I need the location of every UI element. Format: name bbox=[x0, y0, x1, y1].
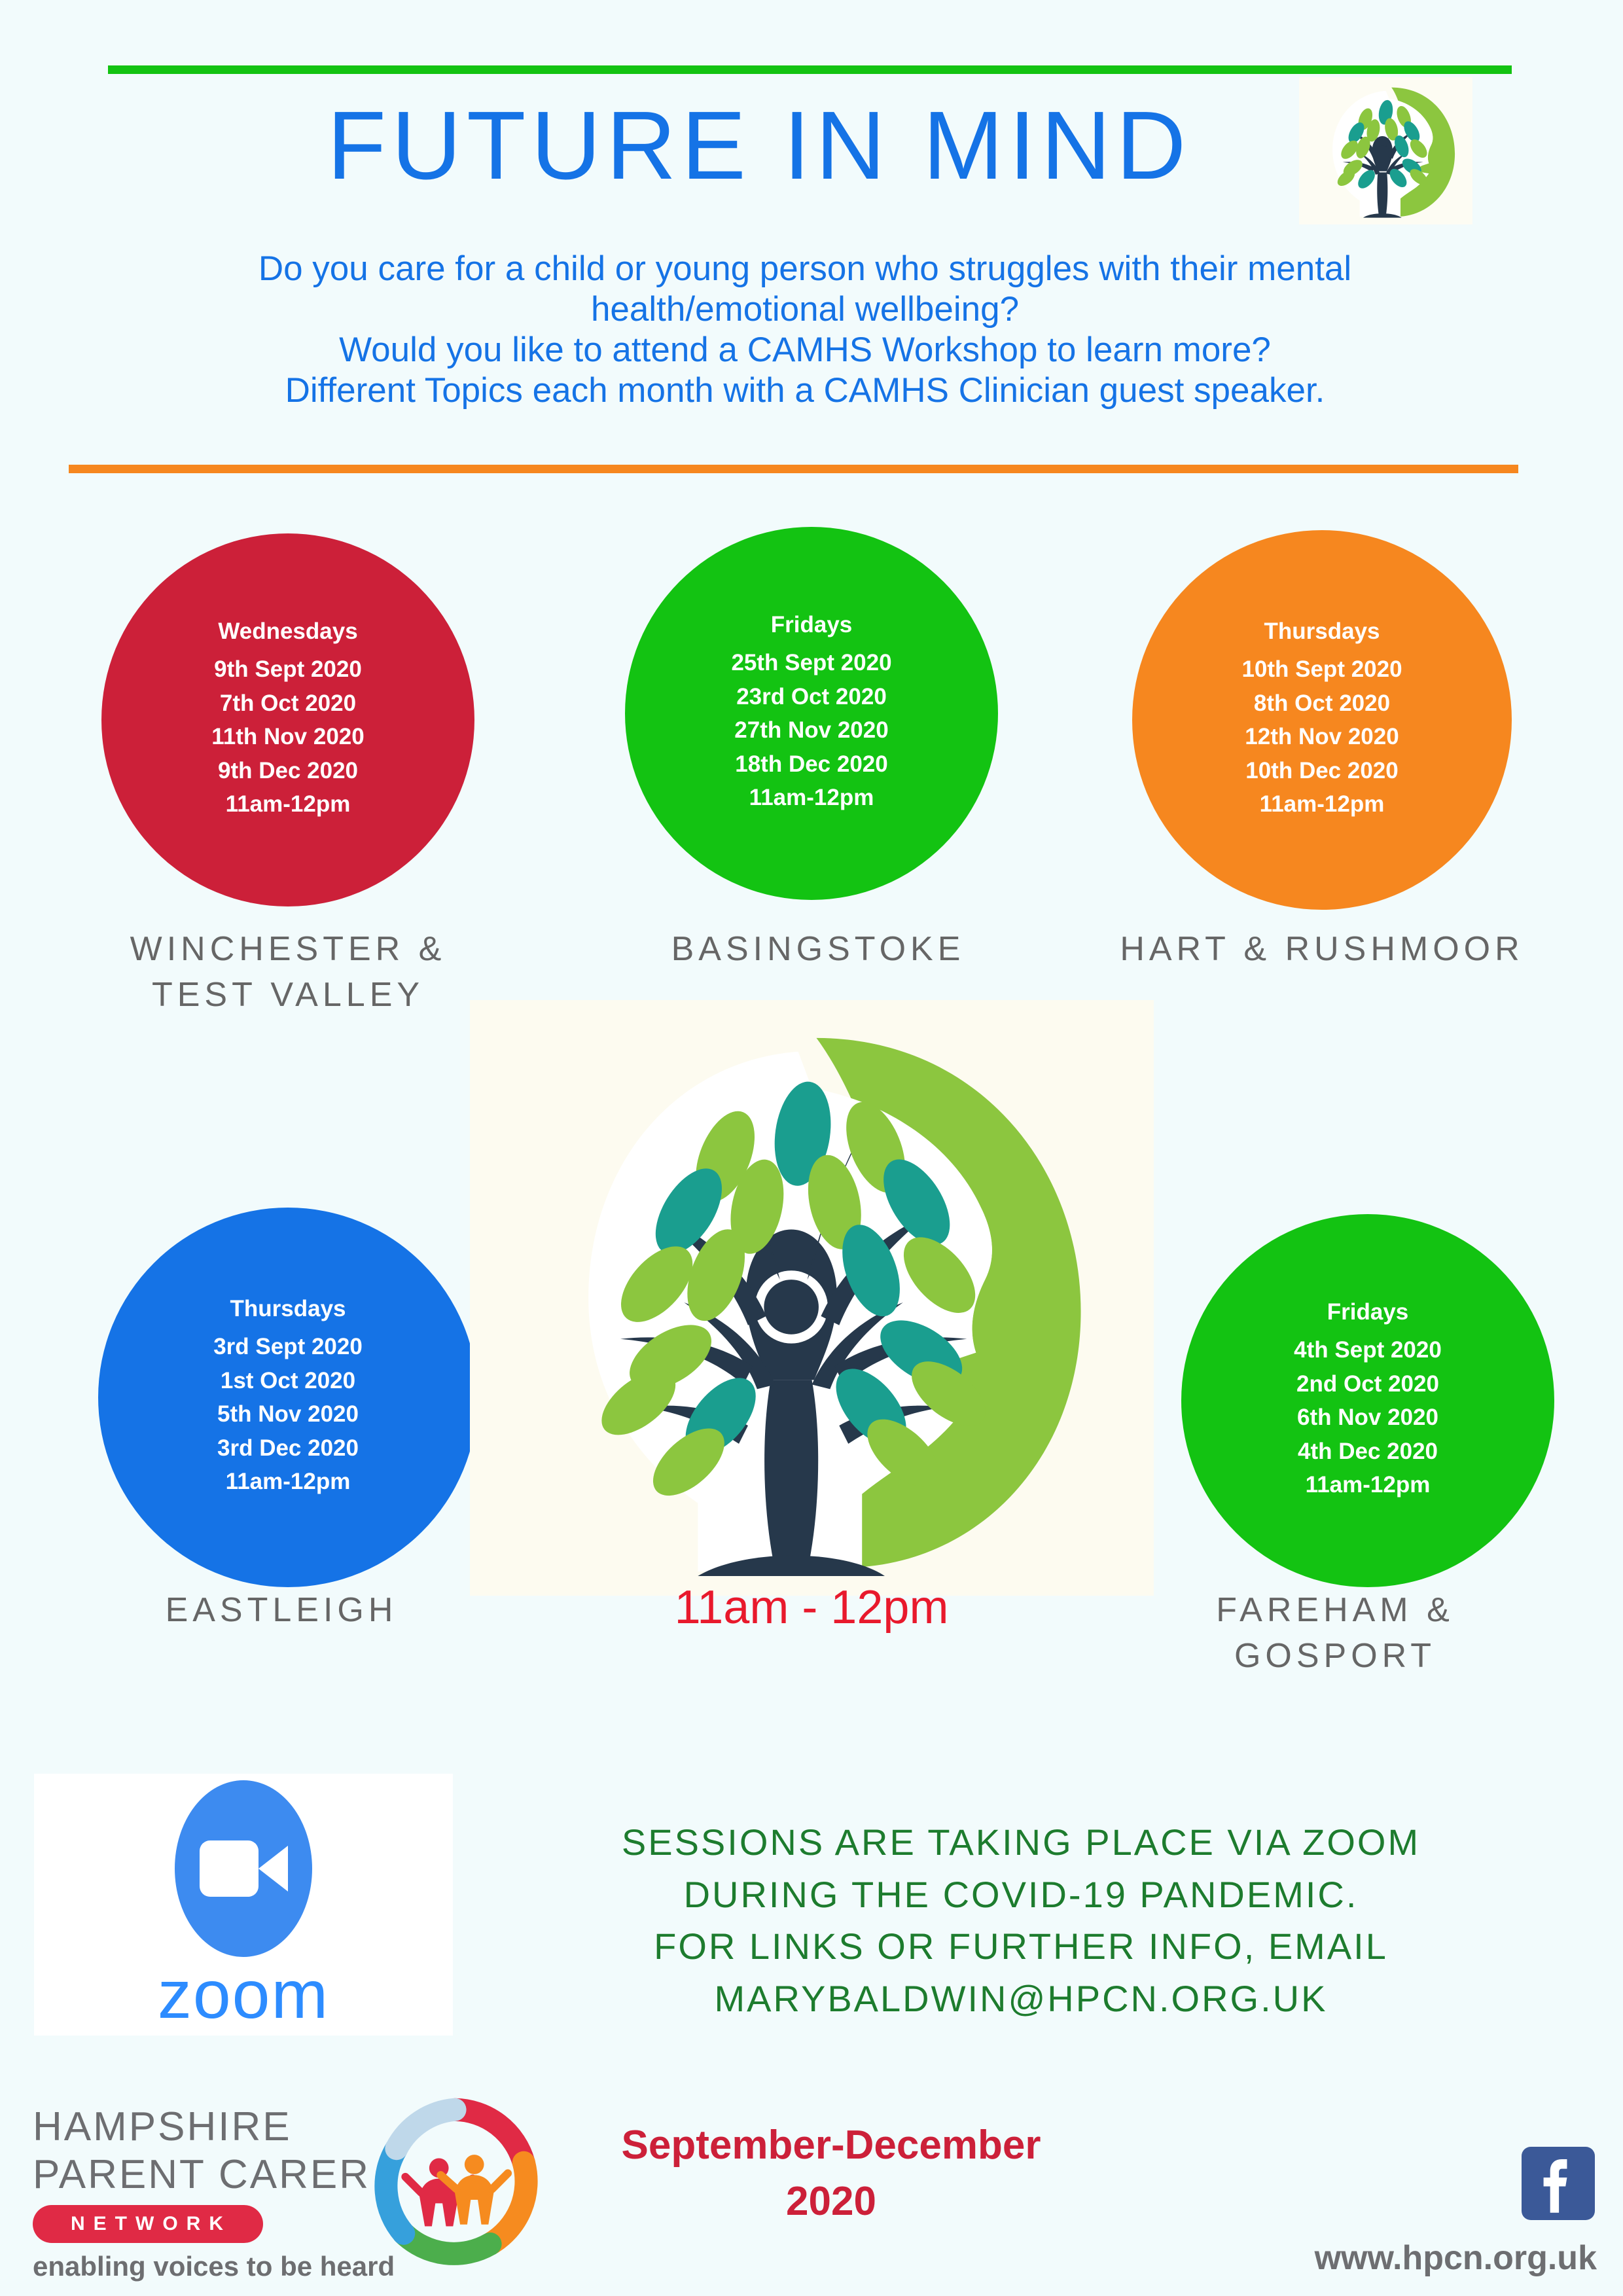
hpcn-tagline: enabling voices to be heard bbox=[33, 2251, 399, 2282]
venue-time: 11am-12pm bbox=[749, 781, 874, 814]
zoom-logo: zoom bbox=[34, 1774, 453, 2036]
venue-date: 27th Nov 2020 bbox=[734, 713, 888, 747]
venue-date: 4th Sept 2020 bbox=[1294, 1333, 1442, 1367]
venue-date: 10th Dec 2020 bbox=[1245, 754, 1398, 787]
venue-date: 10th Sept 2020 bbox=[1241, 653, 1402, 686]
venue-label-line: TEST VALLEY bbox=[39, 972, 537, 1018]
venue-day: Fridays bbox=[1327, 1299, 1409, 1325]
sessions-info-block: SESSIONS ARE TAKING PLACE VIA ZOOM DURIN… bbox=[497, 1816, 1544, 2024]
venue-date: 7th Oct 2020 bbox=[220, 687, 356, 720]
venue-date: 4th Dec 2020 bbox=[1298, 1435, 1438, 1468]
session-time-text: 11am - 12pm bbox=[576, 1581, 1047, 1634]
venue-date: 8th Oct 2020 bbox=[1254, 687, 1390, 720]
venue-time: 11am-12pm bbox=[226, 787, 351, 821]
hpcn-logo: HAMPSHIRE PARENT CARER NETWORK enabling … bbox=[33, 2085, 543, 2294]
zoom-wordmark: zoom bbox=[158, 1961, 329, 2029]
venue-circle-eastleigh: Thursdays 3rd Sept 2020 1st Oct 2020 5th… bbox=[98, 1208, 478, 1587]
venue-date: 6th Nov 2020 bbox=[1297, 1401, 1438, 1434]
venue-day: Thursdays bbox=[1264, 619, 1380, 645]
venue-date: 23rd Oct 2020 bbox=[736, 680, 887, 713]
date-range-footer: September-December 2020 bbox=[589, 2117, 1073, 2229]
subtitle-line-1: Do you care for a child or young person … bbox=[85, 249, 1525, 289]
sessions-line-3: FOR LINKS OR FURTHER INFO, EMAIL bbox=[497, 1920, 1544, 1973]
venue-label-line: WINCHESTER & bbox=[39, 926, 537, 972]
hpcn-swirl-people-icon bbox=[366, 2094, 543, 2270]
subtitle-block: Do you care for a child or young person … bbox=[85, 249, 1525, 411]
sessions-line-2: DURING THE COVID-19 PANDEMIC. bbox=[497, 1869, 1544, 1921]
venue-label-hart-rushmoor: HART & RUSHMOOR bbox=[1060, 926, 1584, 972]
tree-head-logo bbox=[470, 1000, 1154, 1596]
venue-time: 11am-12pm bbox=[226, 1465, 351, 1498]
venue-date: 1st Oct 2020 bbox=[221, 1364, 355, 1397]
zoom-camera-icon bbox=[175, 1780, 312, 1957]
venue-circle-hart-rushmoor: Thursdays 10th Sept 2020 8th Oct 2020 12… bbox=[1132, 530, 1512, 910]
tree-head-logo bbox=[1299, 77, 1472, 224]
venue-date: 25th Sept 2020 bbox=[731, 646, 891, 679]
sessions-line-1: SESSIONS ARE TAKING PLACE VIA ZOOM bbox=[497, 1816, 1544, 1869]
venue-day: Thursdays bbox=[230, 1296, 346, 1322]
poster-page: FUTURE IN MIND bbox=[0, 0, 1623, 2296]
venue-time: 11am-12pm bbox=[1306, 1468, 1431, 1501]
subtitle-line-2: health/emotional wellbeing? bbox=[85, 289, 1525, 330]
hpcn-network-pill: NETWORK bbox=[33, 2205, 263, 2243]
hpcn-line-1: HAMPSHIRE bbox=[33, 2103, 399, 2151]
venue-date: 9th Dec 2020 bbox=[218, 754, 358, 787]
hpcn-line-2: PARENT CARER bbox=[33, 2151, 399, 2198]
venue-label-eastleigh: EASTLEIGH bbox=[39, 1587, 524, 1633]
venue-date: 3rd Sept 2020 bbox=[213, 1330, 363, 1363]
subtitle-line-4: Different Topics each month with a CAMHS… bbox=[85, 370, 1525, 411]
venue-time: 11am-12pm bbox=[1260, 787, 1385, 821]
subtitle-line-3: Would you like to attend a CAMHS Worksho… bbox=[85, 330, 1525, 370]
venue-label-line: BASINGSTOKE bbox=[576, 926, 1060, 972]
orange-divider-rule bbox=[69, 465, 1518, 473]
venue-date: 18th Dec 2020 bbox=[735, 747, 887, 781]
facebook-icon[interactable] bbox=[1522, 2147, 1595, 2220]
venue-label-basingstoke: BASINGSTOKE bbox=[576, 926, 1060, 972]
venue-date: 5th Nov 2020 bbox=[217, 1397, 359, 1431]
venue-day: Fridays bbox=[771, 612, 853, 638]
venue-date: 2nd Oct 2020 bbox=[1296, 1367, 1439, 1401]
contact-email[interactable]: MARYBALDWIN@HPCN.ORG.UK bbox=[497, 1973, 1544, 2025]
venue-date: 3rd Dec 2020 bbox=[217, 1431, 359, 1465]
date-range-line-1: September-December bbox=[589, 2117, 1073, 2174]
venue-label-line: GOSPORT bbox=[1073, 1633, 1597, 1679]
venue-circle-fareham-gosport: Fridays 4th Sept 2020 2nd Oct 2020 6th N… bbox=[1181, 1214, 1554, 1587]
top-green-rule bbox=[108, 65, 1512, 74]
website-url[interactable]: www.hpcn.org.uk bbox=[1283, 2238, 1597, 2278]
venue-label-fareham-gosport: FAREHAM & GOSPORT bbox=[1073, 1587, 1597, 1679]
venue-label-winchester: WINCHESTER & TEST VALLEY bbox=[39, 926, 537, 1018]
venue-label-line: EASTLEIGH bbox=[39, 1587, 524, 1633]
date-range-line-2: 2020 bbox=[589, 2174, 1073, 2230]
venue-date: 11th Nov 2020 bbox=[211, 720, 364, 753]
venue-circle-basingstoke: Fridays 25th Sept 2020 23rd Oct 2020 27t… bbox=[625, 527, 998, 900]
page-title: FUTURE IN MIND bbox=[249, 95, 1270, 196]
venue-label-line: HART & RUSHMOOR bbox=[1060, 926, 1584, 972]
venue-day: Wednesdays bbox=[218, 619, 357, 645]
venue-date: 9th Sept 2020 bbox=[214, 653, 362, 686]
venue-circle-winchester: Wednesdays 9th Sept 2020 7th Oct 2020 11… bbox=[101, 533, 474, 906]
venue-date: 12th Nov 2020 bbox=[1245, 720, 1399, 753]
